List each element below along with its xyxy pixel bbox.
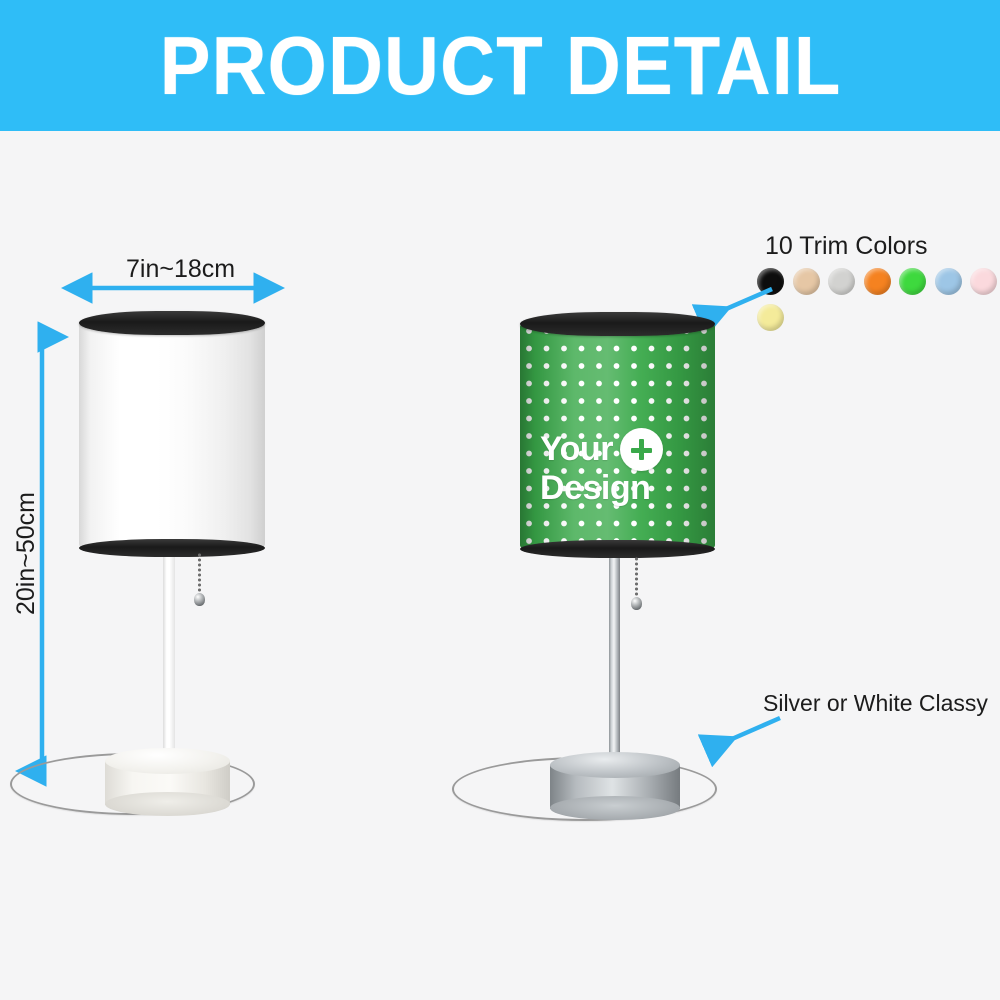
base-top [550,752,680,778]
base-finish-pointer-arrow [700,712,786,756]
product-detail-canvas: PRODUCT DETAIL [0,0,1000,1000]
lamp-green: Your Design [430,0,790,1000]
lamp-pole-silver [609,556,620,766]
swatch-tan[interactable] [793,268,820,295]
shade-trim-top [79,311,265,335]
height-dimension-arrow [34,328,50,780]
pull-chain-silver [635,557,638,601]
swatch-green[interactable] [899,268,926,295]
swatch-pink[interactable] [970,268,997,295]
shade-surface [520,323,715,549]
shade-surface [79,322,265,548]
lamp-shade-green: Your Design [520,312,715,558]
swatch-orange[interactable] [864,268,891,295]
swatch-light-blue[interactable] [935,268,962,295]
trim-colors-title: 10 Trim Colors [765,232,928,261]
pull-chain-ball-silver [631,597,642,610]
pull-chain-white [198,553,201,597]
lamp-pole-white [163,552,175,762]
lamp-base-white [105,748,230,818]
lamp-shade-white [79,311,265,557]
lamp-white [0,0,340,1000]
base-bottom [105,792,230,816]
shade-trim-top [520,312,715,336]
lamp-base-silver [550,752,680,822]
base-bottom [550,796,680,820]
base-top [105,748,230,774]
pull-chain-ball-white [194,593,205,606]
shade-trim-bottom [79,539,265,557]
swatch-light-gray[interactable] [828,268,855,295]
trim-colors-row-1 [757,268,1000,295]
width-dimension-arrow [80,280,266,296]
base-finish-label: Silver or White Classy [763,690,988,717]
shade-trim-bottom [520,540,715,558]
